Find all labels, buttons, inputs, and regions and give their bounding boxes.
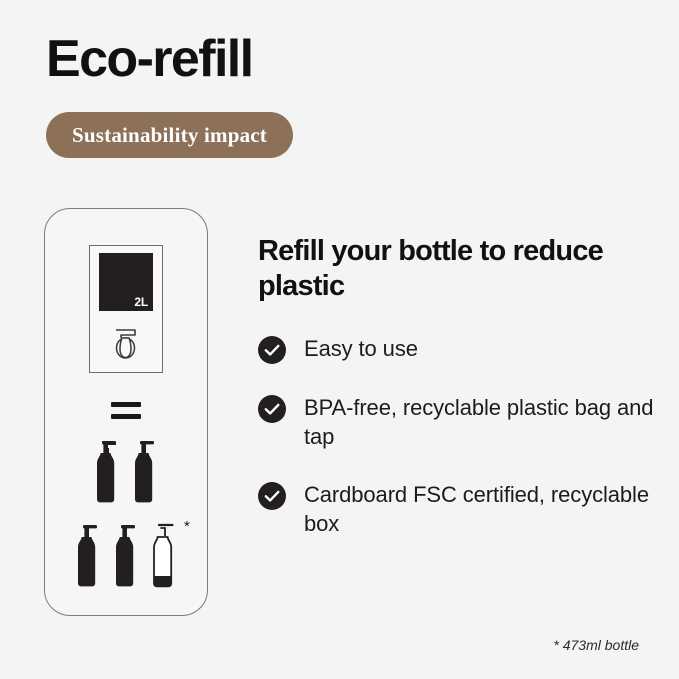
section-heading: Refill your bottle to reduce plastic: [258, 234, 658, 304]
equals-bar-bottom: [111, 414, 141, 419]
status-badge-label: Sustainability impact: [72, 123, 267, 148]
status-badge: Sustainability impact: [46, 112, 293, 158]
check-circle-icon: [258, 336, 286, 364]
footnote-asterisk: *: [184, 519, 190, 534]
list-item: BPA-free, recyclable plastic bag and tap: [258, 393, 658, 452]
refill-carton-graphic: 2L: [89, 245, 163, 373]
equals-bar-top: [111, 402, 141, 407]
bottle-filled-icon: [73, 521, 103, 589]
check-circle-icon: [258, 482, 286, 510]
bottle-outline-icon: [149, 521, 179, 589]
feature-label: Cardboard FSC certified, recyclable box: [304, 480, 658, 539]
content-column: Refill your bottle to reduce plastic Eas…: [258, 234, 658, 539]
bottle-filled-icon: [92, 437, 122, 505]
illustration-card: 2L: [44, 208, 208, 616]
footnote-text: * 473ml bottle: [553, 637, 639, 653]
tap-icon: [109, 325, 143, 366]
feature-list: Easy to use BPA-free, recyclable plastic…: [258, 334, 658, 539]
product-infographic: Eco-refill Sustainability impact 2L: [0, 0, 679, 679]
list-item: Easy to use: [258, 334, 658, 364]
feature-label: BPA-free, recyclable plastic bag and tap: [304, 393, 658, 452]
bottle-row-three: [73, 521, 179, 589]
refill-bag-graphic: 2L: [99, 253, 153, 311]
bottle-filled-icon: [111, 521, 141, 589]
feature-label: Easy to use: [304, 334, 418, 363]
carton-volume-label: 2L: [134, 296, 148, 308]
check-circle-icon: [258, 395, 286, 423]
equals-symbol-graphic: [111, 402, 141, 419]
bottle-filled-icon: [130, 437, 160, 505]
list-item: Cardboard FSC certified, recyclable box: [258, 480, 658, 539]
bottle-row-two: [92, 437, 160, 505]
page-title: Eco-refill: [46, 32, 253, 87]
